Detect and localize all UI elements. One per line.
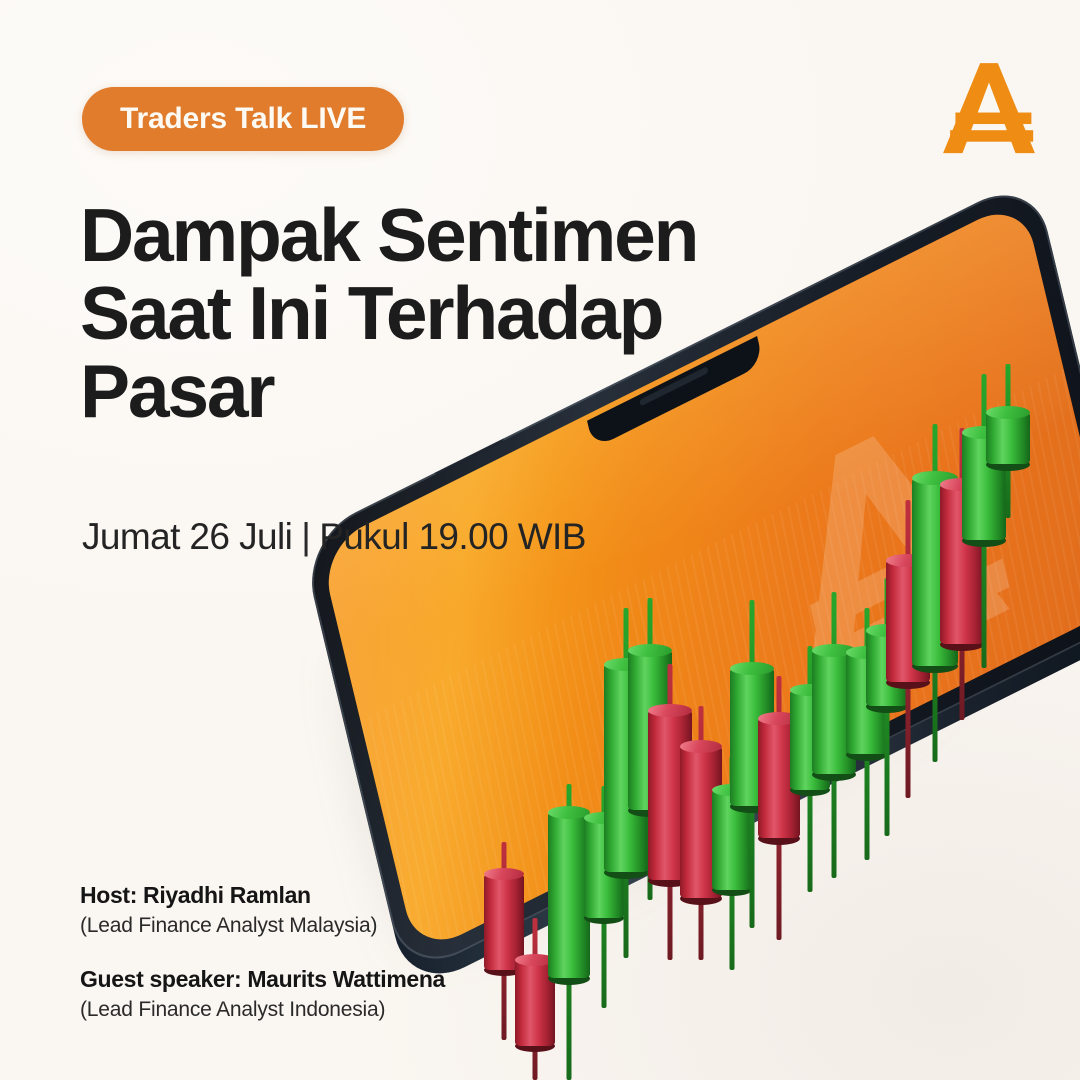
candlestick-1-down: [484, 842, 524, 1040]
candle-body-cap: [886, 554, 930, 567]
candle-wick: [832, 592, 837, 878]
candle-body-base: [712, 884, 752, 896]
candle-wick: [750, 600, 755, 928]
candle-wick: [567, 784, 572, 1080]
candle-wick: [648, 598, 653, 900]
candlestick-18-down: [940, 428, 984, 720]
credit-host-name: Host: Riyadhi Ramlan: [80, 882, 445, 909]
candle-body-cap: [515, 954, 555, 966]
candle-body: [548, 812, 590, 978]
candlestick-10-up: [730, 600, 774, 928]
candle-body-cap: [846, 646, 888, 659]
candlestick-11-down: [758, 676, 800, 940]
candle-body-base: [648, 874, 692, 887]
candle-body-cap: [730, 662, 774, 675]
credit-guest-role: (Lead Finance Analyst Indonesia): [80, 998, 445, 1022]
candle-body-base: [548, 972, 590, 985]
candle-body-base: [758, 832, 800, 845]
traders-talk-live-badge[interactable]: Traders Talk LIVE: [82, 87, 404, 151]
credit-guest-name: Guest speaker: Maurits Wattimena: [80, 966, 445, 993]
candle-body-cap: [484, 868, 524, 880]
candle-body-base: [886, 676, 930, 689]
candle-wick: [906, 500, 911, 798]
schedule-date: Jumat 26 Juli: [82, 516, 292, 557]
candle-body: [812, 650, 856, 774]
headline-line-2: Saat Ini Terhadap: [80, 274, 800, 352]
candle-body: [628, 650, 672, 810]
candle-body-cap: [962, 426, 1006, 439]
candle-body-cap: [866, 624, 908, 637]
candle-body: [648, 710, 692, 880]
candle-body: [986, 412, 1030, 464]
credits-block: Host: Riyadhi Ramlan (Lead Finance Analy…: [80, 882, 445, 1022]
candle-wick: [865, 608, 870, 860]
headline-line-3: Pasar: [80, 352, 800, 430]
candle-body-cap: [680, 740, 722, 753]
candlestick-7-down: [648, 664, 692, 960]
candlestick-8-down: [680, 706, 722, 960]
candlestick-6-up: [628, 598, 672, 900]
candle-body-cap: [548, 806, 590, 819]
candle-body-cap: [940, 478, 984, 491]
candle-body-base: [680, 892, 722, 905]
candle-body: [730, 668, 774, 806]
candle-wick: [699, 706, 704, 960]
candle-body-cap: [986, 406, 1030, 419]
candlestick-14-up: [846, 608, 888, 860]
candlestick-13-up: [812, 592, 856, 878]
candle-wick: [808, 646, 813, 892]
candle-wick: [533, 918, 538, 1080]
credit-host-role: (Lead Finance Analyst Malaysia): [80, 914, 445, 938]
candle-body-cap: [584, 812, 624, 824]
candle-body-cap: [812, 644, 856, 657]
candle-body-base: [790, 784, 830, 796]
schedule-line: Jumat 26 Juli|Pukul 19.00 WIB: [82, 516, 586, 558]
candle-body-base: [912, 659, 958, 673]
candle-body: [584, 818, 624, 918]
candle-body-cap: [628, 644, 672, 657]
candle-body: [940, 484, 984, 644]
candle-body-base: [940, 638, 984, 651]
candle-wick: [624, 608, 629, 958]
candle-body-base: [584, 912, 624, 924]
schedule-time: Pukul 19.00 WIB: [319, 516, 586, 557]
candle-body: [515, 960, 555, 1046]
candle-wick: [1006, 364, 1011, 518]
candlestick-16-down: [886, 500, 930, 798]
candle-body-cap: [712, 784, 752, 796]
candle-wick: [730, 756, 735, 970]
candlestick-12-up: [790, 646, 830, 892]
candle-wick: [933, 424, 938, 762]
candle-body-cap: [790, 684, 830, 696]
candlestick-2-down: [515, 918, 555, 1080]
candle-body-base: [484, 964, 524, 976]
credit-host: Host: Riyadhi Ramlan (Lead Finance Analy…: [80, 882, 445, 938]
candle-body-base: [846, 748, 888, 761]
candle-body: [604, 664, 648, 872]
candle-body-base: [866, 700, 908, 713]
candle-body-base: [986, 458, 1030, 471]
candle-body-base: [604, 866, 648, 879]
candle-body-base: [962, 534, 1006, 547]
candle-body: [846, 652, 888, 754]
schedule-separator: |: [292, 516, 319, 557]
candle-body-cap: [604, 658, 648, 671]
brand-logo-a-icon: [936, 58, 1042, 160]
candle-wick: [885, 578, 890, 836]
candle-body: [866, 630, 908, 706]
credit-guest: Guest speaker: Maurits Wattimena (Lead F…: [80, 966, 445, 1022]
candle-wick: [502, 842, 507, 1040]
candlestick-3-up: [548, 784, 590, 1080]
candle-body-cap: [912, 471, 958, 485]
candle-body: [962, 432, 1006, 540]
candle-wick: [960, 428, 965, 720]
candle-body: [758, 718, 800, 838]
candle-body-base: [812, 768, 856, 781]
candlestick-5-up: [604, 608, 648, 958]
candle-body-cap: [648, 704, 692, 717]
candle-wick: [668, 664, 673, 960]
candlestick-17-up: [912, 424, 958, 762]
candlestick-9-up: [712, 756, 752, 970]
poster-canvas: Traders Talk LIVE Dampak Sentimen Saat I…: [0, 0, 1080, 1080]
badge-label: Traders Talk LIVE: [120, 102, 366, 136]
phone-side-button: [433, 433, 505, 476]
candlestick-4-up: [584, 786, 624, 1008]
candlestick-19-up: [962, 374, 1006, 668]
candlestick-20-up: [986, 364, 1030, 518]
screen-ridge-texture: [360, 369, 1080, 957]
candle-wick: [982, 374, 987, 668]
candle-body: [790, 690, 830, 790]
candle-body-base: [628, 804, 672, 817]
candle-body: [886, 560, 930, 682]
candle-body-base: [515, 1040, 555, 1052]
candle-wick: [777, 676, 782, 940]
candle-body: [712, 790, 752, 890]
candle-body: [912, 478, 958, 666]
candlestick-15-up: [866, 578, 908, 836]
headline-line-1: Dampak Sentimen: [80, 196, 800, 274]
candle-wick: [602, 786, 607, 1008]
candle-body: [680, 746, 722, 898]
page-title: Dampak Sentimen Saat Ini Terhadap Pasar: [80, 196, 800, 430]
candle-body-cap: [758, 712, 800, 725]
candle-body: [484, 874, 524, 970]
candle-body-base: [730, 800, 774, 813]
